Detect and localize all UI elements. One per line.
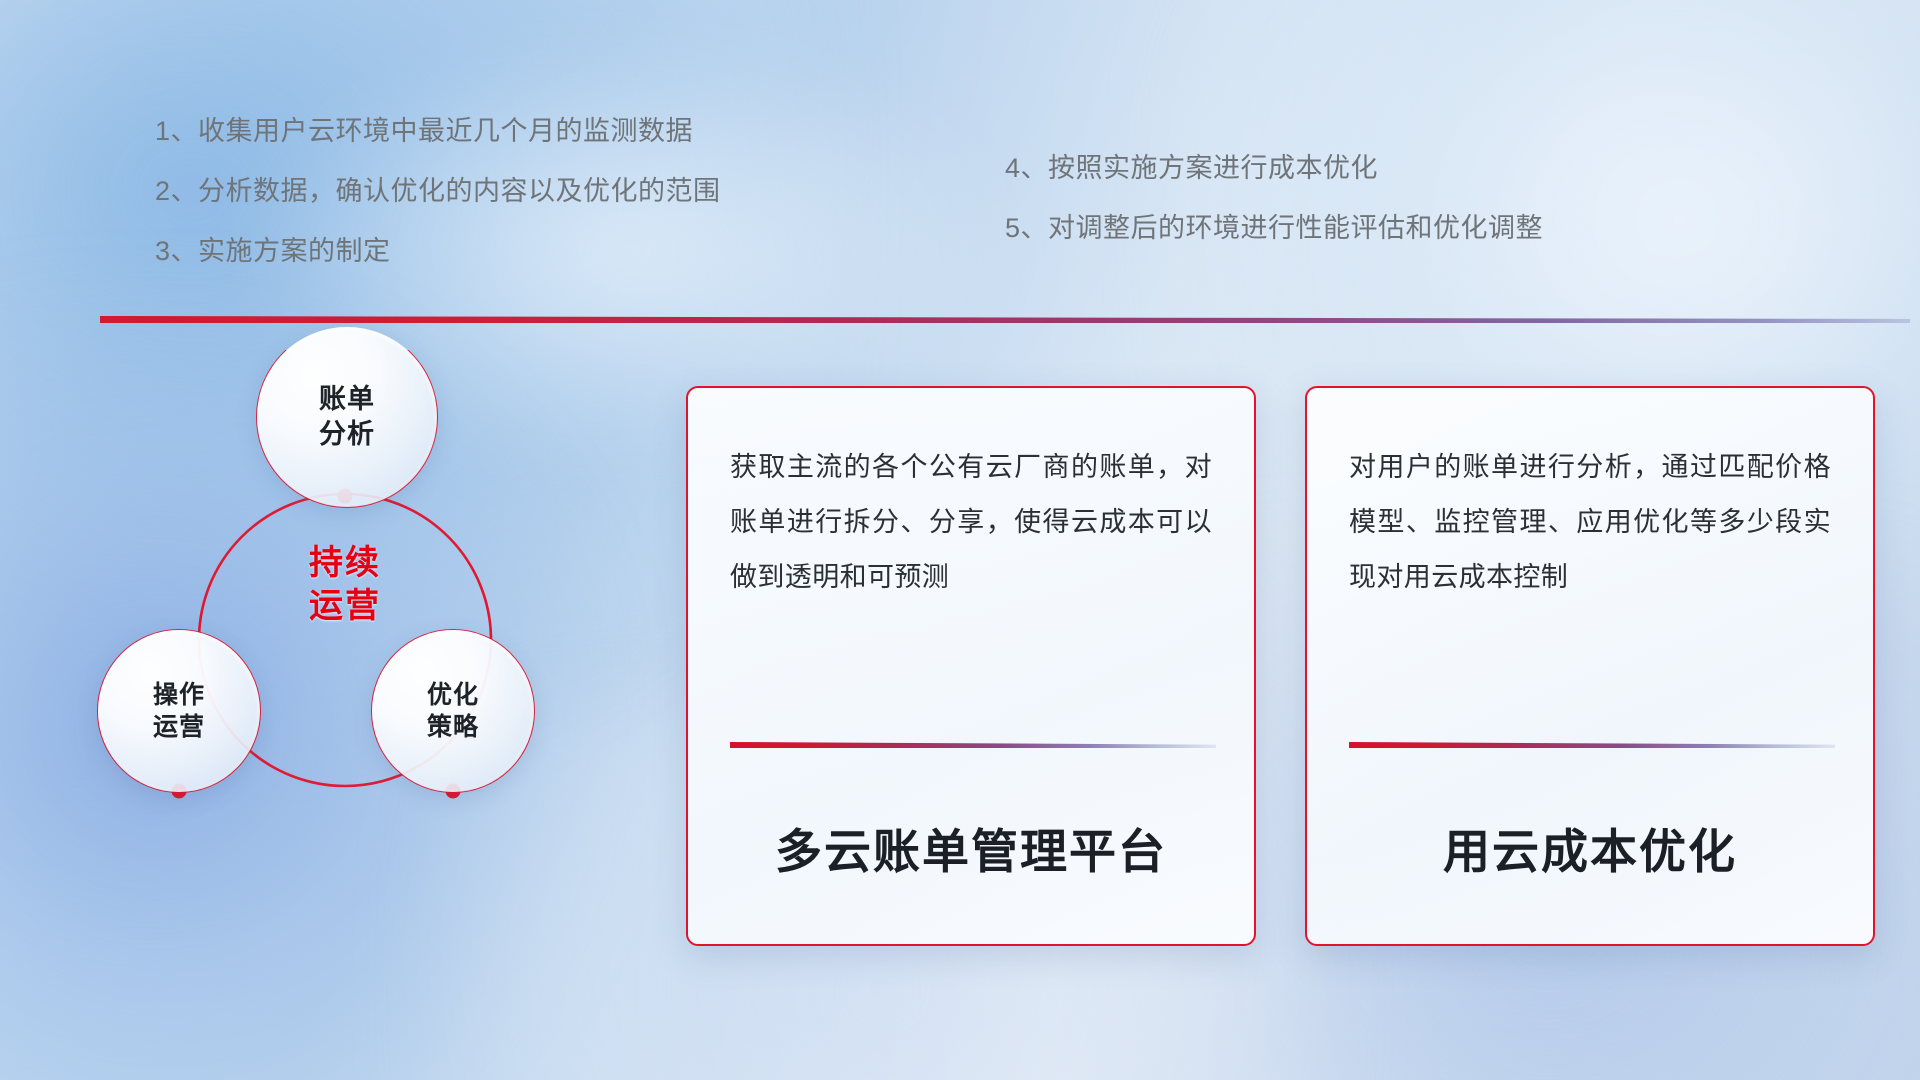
venn-bubble-optimization-strategy[interactable]: 优化 策略 xyxy=(372,630,534,792)
venn-bubble-operations[interactable]: 操作 运营 xyxy=(98,630,260,792)
steps-column-left: 1、收集用户云环境中最近几个月的监测数据 2、分析数据，确认优化的内容以及优化的… xyxy=(155,118,721,298)
step-item-1: 1、收集用户云环境中最近几个月的监测数据 xyxy=(155,118,721,145)
card-multi-cloud-bill-platform-title: 多云账单管理平台 xyxy=(688,813,1254,882)
card-cloud-cost-optimization-rule xyxy=(1349,742,1835,748)
venn-bubble-operations-line2: 运营 xyxy=(153,711,205,744)
venn-bubble-bill-analysis-line1: 账单 xyxy=(319,382,375,417)
step-item-3: 3、实施方案的制定 xyxy=(155,238,721,265)
card-multi-cloud-bill-platform-rule xyxy=(730,742,1216,748)
venn-bubble-optimization-strategy-line2: 策略 xyxy=(427,711,479,744)
card-cloud-cost-optimization-body: 对用户的账单进行分析，通过匹配价格模型、监控管理、应用优化等多少段实现对用云成本… xyxy=(1349,440,1831,690)
card-multi-cloud-bill-platform[interactable]: 获取主流的各个公有云厂商的账单，对账单进行拆分、分享，使得云成本可以做到透明和可… xyxy=(686,386,1256,946)
venn-bubble-bill-analysis[interactable]: 账单 分析 xyxy=(257,327,437,507)
step-item-2: 2、分析数据，确认优化的内容以及优化的范围 xyxy=(155,178,721,205)
venn-bubble-optimization-strategy-line1: 优化 xyxy=(427,679,479,712)
steps-column-right: 4、按照实施方案进行成本优化 5、对调整后的环境进行性能评估和优化调整 xyxy=(1005,155,1543,275)
venn-center-line2: 运营 xyxy=(309,585,381,628)
venn-center-line1: 持续 xyxy=(309,542,381,585)
card-cloud-cost-optimization-title: 用云成本优化 xyxy=(1307,813,1873,882)
card-cloud-cost-optimization[interactable]: 对用户的账单进行分析，通过匹配价格模型、监控管理、应用优化等多少段实现对用云成本… xyxy=(1305,386,1875,946)
step-item-5: 5、对调整后的环境进行性能评估和优化调整 xyxy=(1005,215,1543,242)
card-multi-cloud-bill-platform-body: 获取主流的各个公有云厂商的账单，对账单进行拆分、分享，使得云成本可以做到透明和可… xyxy=(730,440,1212,690)
venn-bubble-bill-analysis-line2: 分析 xyxy=(319,417,375,452)
continuous-operation-diagram: 账单 分析 操作 运营 优化 策略 持续 运营 xyxy=(95,350,655,950)
venn-bubble-operations-line1: 操作 xyxy=(153,679,205,712)
venn-center-label: 持续 运营 xyxy=(245,520,445,650)
step-item-4: 4、按照实施方案进行成本优化 xyxy=(1005,155,1543,182)
steps-section: 1、收集用户云环境中最近几个月的监测数据 2、分析数据，确认优化的内容以及优化的… xyxy=(0,0,1920,310)
